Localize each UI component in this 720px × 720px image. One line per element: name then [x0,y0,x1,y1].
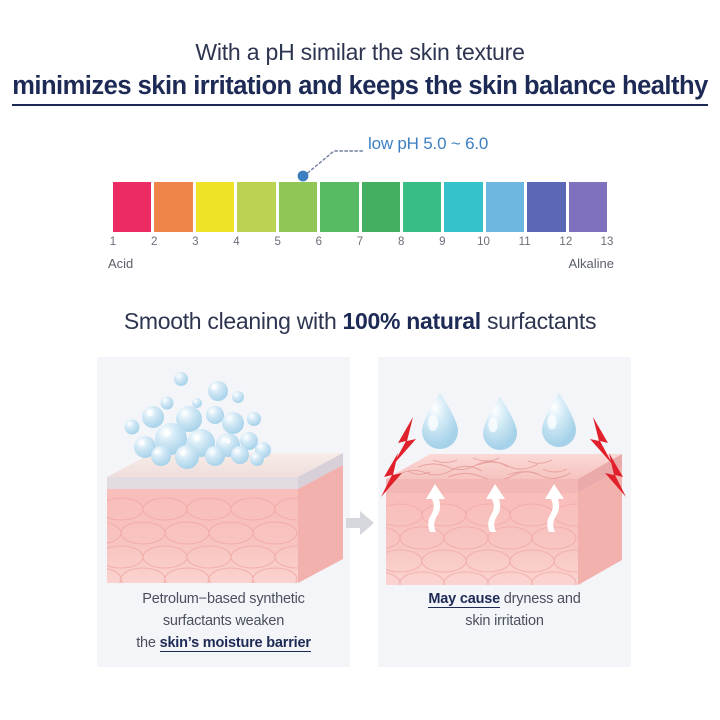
arrow-right-icon [344,508,376,538]
ph-swatch-2 [154,182,192,232]
petroleum-surfactant-panel: Petrolum−based synthetic surfactants wea… [97,357,350,667]
ph-scale-endpoints: Acid Alkaline [108,256,614,271]
headline-block: With a pH similar the skin texture minim… [0,38,720,106]
ph-swatch-5 [279,182,317,232]
ph-tick-13: 13 [601,236,614,248]
ph-tick-1: 1 [110,236,116,248]
ph-tick-6: 6 [316,236,322,248]
ph-swatch-11 [527,182,565,232]
skin-with-foam-illustration [97,357,350,592]
ph-tick-labels: 12345678910111213 [113,236,607,252]
ph-tick-2: 2 [151,236,157,248]
water-droplet-icon [422,393,576,450]
ph-tick-9: 9 [439,236,445,248]
ph-alkaline-label: Alkaline [568,256,614,271]
ph-swatch-3 [196,182,234,232]
headline-subtitle: With a pH similar the skin texture [0,38,720,67]
ph-swatch-6 [320,182,358,232]
dryness-irritation-panel: May cause dryness and skin irritation [378,357,631,667]
ph-swatch-8 [403,182,441,232]
subheading-after: surfactants [481,308,596,334]
panel-caption-left: Petrolum−based synthetic surfactants wea… [97,589,350,654]
ph-swatch-12 [569,182,607,232]
caption-line-3-emphasis: skin’s moisture barrier [160,635,311,652]
ph-swatch-10 [486,182,524,232]
ph-color-bar [113,182,607,232]
subheading-before: Smooth cleaning with [124,308,343,334]
caption-emphasis: May cause [428,591,500,608]
caption-line-2: surfactants weaken [163,613,284,629]
ph-tick-4: 4 [233,236,239,248]
ph-swatch-4 [237,182,275,232]
caption-line-2: skin irritation [465,613,543,629]
damaged-skin-illustration [378,357,631,592]
ph-tick-3: 3 [192,236,198,248]
ph-swatch-1 [113,182,151,232]
ph-callout: low pH 5.0 ~ 6.0 [296,134,596,182]
ph-tick-7: 7 [357,236,363,248]
subheading: Smooth cleaning with 100% natural surfac… [0,308,720,335]
ph-acid-label: Acid [108,256,133,271]
ph-tick-11: 11 [519,236,531,248]
ph-swatch-7 [362,182,400,232]
ph-tick-5: 5 [274,236,280,248]
caption-line-1-suffix: dryness and [500,591,581,607]
ph-tick-12: 12 [559,236,572,248]
ph-swatch-9 [444,182,482,232]
ph-tick-8: 8 [398,236,404,248]
ph-callout-label: low pH 5.0 ~ 6.0 [368,134,488,154]
caption-line-3-prefix: the [136,635,159,651]
caption-line-1: Petrolum−based synthetic [142,591,304,607]
headline-main: minimizes skin irritation and keeps the … [12,70,708,107]
subheading-emphasis: 100% natural [343,308,481,334]
panel-caption-right: May cause dryness and skin irritation [378,589,631,633]
ph-tick-10: 10 [477,236,490,248]
